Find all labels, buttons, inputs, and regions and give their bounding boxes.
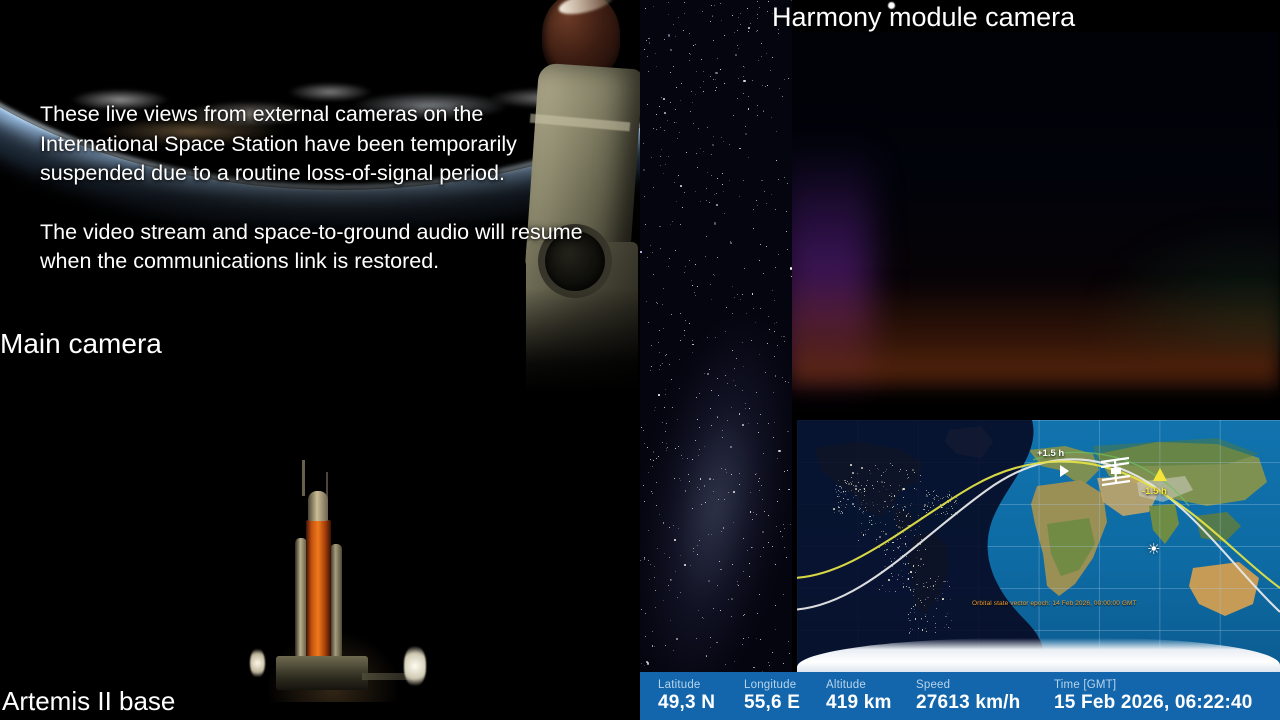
- los-message-line-1: These live views from external cameras o…: [40, 100, 600, 189]
- harmony-camera-pane[interactable]: [792, 0, 1280, 418]
- launch-tower: [302, 460, 305, 496]
- mobile-launcher-base: [276, 656, 368, 690]
- sub-solar-point-icon: ☀: [1147, 542, 1160, 557]
- launch-pad-scene: [250, 477, 460, 702]
- telemetry-longitude-label: Longitude: [744, 679, 826, 691]
- telemetry-speed-value: 27613 km/h: [916, 692, 1054, 714]
- telemetry-latitude: Latitude 49,3 N: [658, 679, 744, 714]
- starfield-pane: [640, 0, 792, 720]
- main-camera-pane[interactable]: These live views from external cameras o…: [0, 0, 640, 720]
- loss-of-signal-message: These live views from external cameras o…: [40, 100, 600, 277]
- harmony-camera-label: Harmony module camera: [772, 2, 1075, 33]
- telemetry-longitude-value: 55,6 E: [744, 692, 826, 714]
- iss-station-icon: [1095, 456, 1137, 486]
- telemetry-longitude: Longitude 55,6 E: [744, 679, 826, 714]
- harmony-video-frame: [792, 32, 1280, 392]
- telemetry-bar: Latitude 49,3 N Longitude 55,6 E Altitud…: [640, 672, 1280, 720]
- telemetry-time: Time [GMT] 15 Feb 2026, 06:22:40: [1054, 679, 1253, 714]
- telemetry-altitude-label: Altitude: [826, 679, 916, 691]
- sls-core-stage: [306, 520, 331, 660]
- telemetry-latitude-label: Latitude: [658, 679, 744, 691]
- telemetry-time-label: Time [GMT]: [1054, 679, 1253, 691]
- solid-rocket-booster-right: [330, 544, 342, 656]
- iss-tracking-map[interactable]: +1.5 h -1.5 h ☀ Orbital state vector epo…: [797, 420, 1280, 672]
- star-field: [640, 0, 792, 720]
- pad-floodlight-left: [250, 648, 265, 678]
- orion-capsule: [308, 491, 328, 521]
- airglow-orange: [792, 280, 1278, 390]
- los-message-line-2: The video stream and space-to-ground aud…: [40, 218, 600, 277]
- artemis-base-label: Artemis II base: [2, 686, 175, 717]
- orbit-marker-plus-label: +1.5 h: [1037, 448, 1064, 459]
- orbit-epoch-note: Orbital state vector epoch: 14 Feb 2026,…: [972, 600, 1137, 607]
- orbit-marker-plus-icon: [1060, 465, 1069, 477]
- telemetry-speed: Speed 27613 km/h: [916, 679, 1054, 714]
- orbit-marker-minus-label: -1.5 h: [1142, 486, 1167, 497]
- visor-glint: [557, 0, 616, 19]
- orbit-marker-minus-icon: [1153, 468, 1167, 481]
- telemetry-altitude: Altitude 419 km: [826, 679, 916, 714]
- telemetry-latitude-value: 49,3 N: [658, 692, 744, 714]
- broadcast-screen: These live views from external cameras o…: [0, 0, 1280, 720]
- telemetry-time-value: 15 Feb 2026, 06:22:40: [1054, 692, 1253, 714]
- telemetry-speed-label: Speed: [916, 679, 1054, 691]
- eva-shadow-fade: [524, 288, 640, 392]
- telemetry-altitude-value: 419 km: [826, 692, 916, 714]
- main-camera-label: Main camera: [0, 328, 162, 360]
- pad-floodlight-right: [404, 646, 426, 686]
- harmony-video-feed: [792, 32, 1278, 390]
